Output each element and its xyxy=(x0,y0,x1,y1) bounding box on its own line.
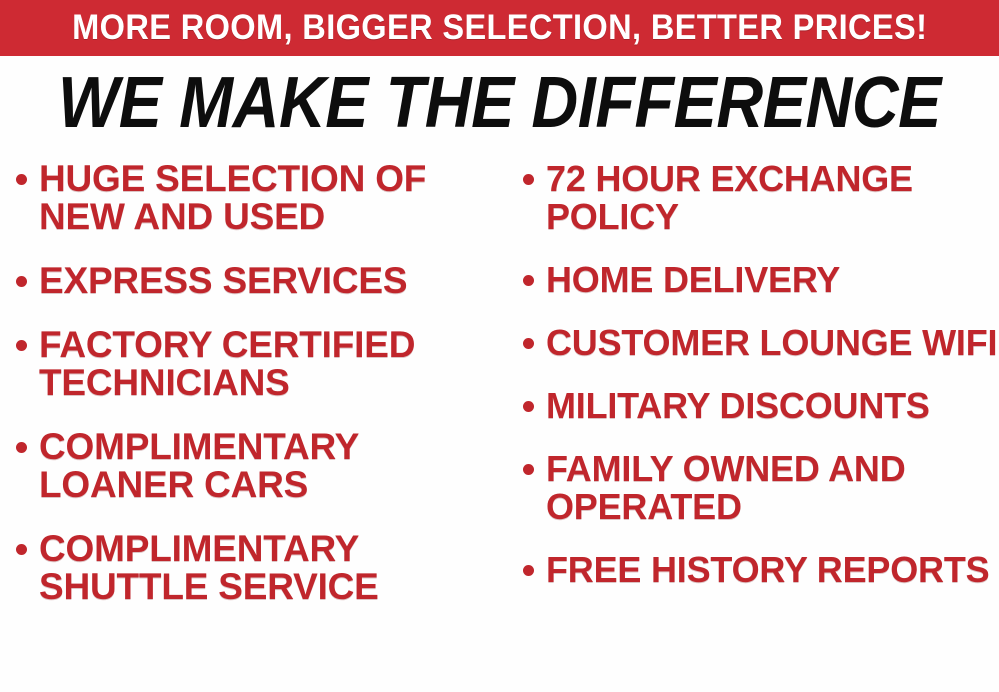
list-item-label: CUSTOMER LOUNGE WIFI xyxy=(546,324,999,362)
list-item-label: FREE HISTORY REPORTS xyxy=(546,551,999,589)
bullet-dot-icon xyxy=(16,174,27,185)
top-banner: MORE ROOM, BIGGER SELECTION, BETTER PRIC… xyxy=(0,0,999,56)
list-item-label: MILITARY DISCOUNTS xyxy=(546,387,999,425)
bullet-dot-icon xyxy=(523,401,534,412)
benefits-column-right: 72 HOUR EXCHANGE POLICY HOME DELIVERY CU… xyxy=(505,160,999,614)
list-item: MILITARY DISCOUNTS xyxy=(523,387,999,425)
bullet-dot-icon xyxy=(523,275,534,286)
promo-poster: MORE ROOM, BIGGER SELECTION, BETTER PRIC… xyxy=(0,0,999,692)
bullet-dot-icon xyxy=(16,442,27,453)
top-banner-text: MORE ROOM, BIGGER SELECTION, BETTER PRIC… xyxy=(72,10,927,47)
bullet-dot-icon xyxy=(16,276,27,287)
list-item-label: COMPLIMENTARY LOANER CARS xyxy=(39,428,505,504)
list-item: 72 HOUR EXCHANGE POLICY xyxy=(523,160,999,236)
list-item-label: FACTORY CERTIFIED TECHNICIANS xyxy=(39,326,505,402)
list-item: FAMILY OWNED AND OPERATED xyxy=(523,450,999,526)
list-item: CUSTOMER LOUNGE WIFI xyxy=(523,324,999,362)
bullet-dot-icon xyxy=(523,174,534,185)
benefits-columns: HUGE SELECTION OF NEW AND USED EXPRESS S… xyxy=(0,160,999,692)
bullet-dot-icon xyxy=(523,565,534,576)
bullet-dot-icon xyxy=(16,544,27,555)
list-item-label: 72 HOUR EXCHANGE POLICY xyxy=(546,160,999,236)
list-item-label: FAMILY OWNED AND OPERATED xyxy=(546,450,999,526)
list-item: FACTORY CERTIFIED TECHNICIANS xyxy=(16,326,505,402)
list-item: COMPLIMENTARY SHUTTLE SERVICE xyxy=(16,530,505,606)
list-item: COMPLIMENTARY LOANER CARS xyxy=(16,428,505,504)
list-item-label: COMPLIMENTARY SHUTTLE SERVICE xyxy=(39,530,505,606)
bullet-dot-icon xyxy=(523,464,534,475)
bullet-dot-icon xyxy=(523,338,534,349)
benefits-column-left: HUGE SELECTION OF NEW AND USED EXPRESS S… xyxy=(0,160,505,632)
list-item: HUGE SELECTION OF NEW AND USED xyxy=(16,160,505,236)
bullet-dot-icon xyxy=(16,340,27,351)
list-item: FREE HISTORY REPORTS xyxy=(523,551,999,589)
list-item-label: HUGE SELECTION OF NEW AND USED xyxy=(39,160,505,236)
page-title: WE MAKE THE DIFFERENCE xyxy=(50,66,949,140)
list-item-label: HOME DELIVERY xyxy=(546,261,999,299)
list-item: EXPRESS SERVICES xyxy=(16,262,505,300)
list-item: HOME DELIVERY xyxy=(523,261,999,299)
list-item-label: EXPRESS SERVICES xyxy=(39,262,505,300)
